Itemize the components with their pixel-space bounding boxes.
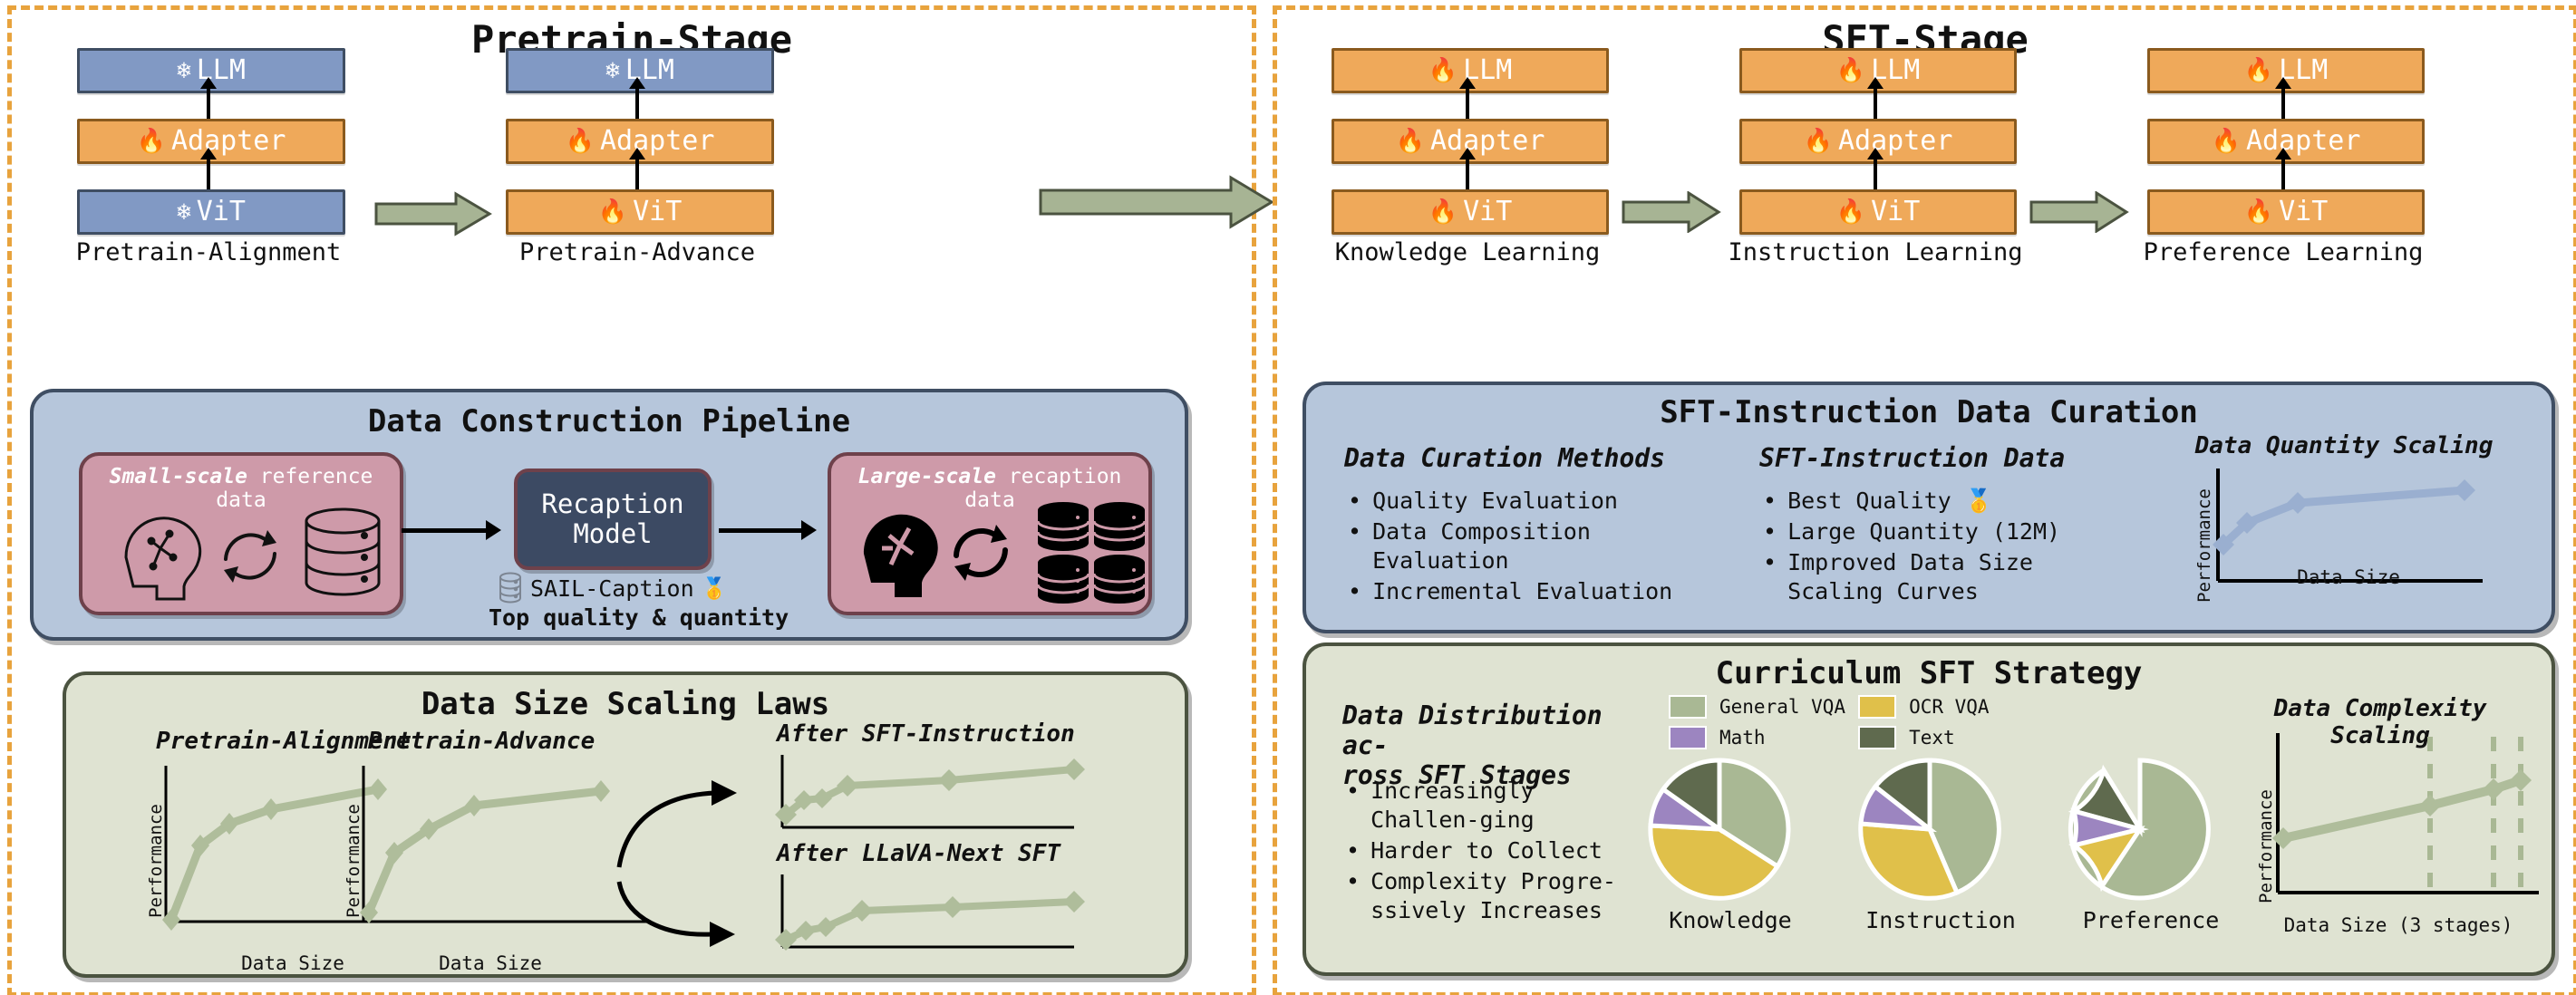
item-text: Best Quality 🥇: [1787, 487, 1993, 516]
pipeline-title: Data Construction Pipeline: [34, 403, 1185, 440]
list-item: •Data Composition Evaluation: [1348, 517, 1719, 575]
recaption-model-box[interactable]: Recaption Model: [514, 469, 712, 570]
block-label: Adapter: [2246, 128, 2360, 155]
data-size-scaling-laws-card: Data Size Scaling Laws Pretrain-Alignmen…: [63, 671, 1188, 978]
block-vit-1[interactable]: ❄ ViT: [77, 189, 345, 235]
small-scale-emph: Small-scale: [110, 465, 247, 488]
list-item: •Large Quantity (12M): [1763, 517, 2126, 546]
snowflake-icon: ❄: [177, 200, 191, 224]
arrow-adapter-to-llm-1: [207, 88, 210, 119]
item-text: Large Quantity (12M): [1787, 517, 2060, 546]
arrow-adapter-to-llm-2: [635, 88, 639, 119]
fire-icon: 🔥: [1428, 200, 1457, 224]
bullet-icon: •: [1763, 517, 1777, 546]
legend-label-general-vqa: General VQA: [1719, 696, 1845, 718]
stage-arrow-1: [374, 191, 492, 237]
scaling-laws-title: Data Size Scaling Laws: [66, 686, 1185, 722]
sail-caption-label: SAIL-Caption: [530, 575, 694, 602]
pretrain-advance-label: Pretrain-Advance: [497, 238, 778, 266]
chart-after-llava-next-sft: After LLaVA-Next SFT: [768, 840, 1112, 958]
sft-arrow-2: [2029, 191, 2129, 233]
chart-pretrain-advance: Pretrain-Advance Performance Data Size: [318, 728, 644, 954]
fire-icon: 🔥: [1428, 59, 1457, 82]
pie-label-knowledge: Knowledge: [1622, 907, 1839, 933]
item-text: Harder to Collect: [1370, 836, 1603, 865]
pie-instruction: [1850, 755, 2031, 909]
knowledge-learning-label: Knowledge Learning: [1313, 238, 1622, 266]
sft-stage-panel: SFT-Stage 🔥 LLM 🔥 Adapter 🔥 ViT Knowledg…: [1273, 5, 2576, 995]
arrow-adapter-to-llm-p: [2281, 88, 2285, 119]
fire-icon: 🔥: [2244, 59, 2273, 82]
list-item: •Increasingly Challen-ging: [1346, 777, 1654, 835]
curation-col2-list: •Best Quality 🥇 •Large Quantity (12M) •I…: [1763, 487, 2126, 608]
pie-preference: [2060, 755, 2242, 909]
legend-swatch-ocr-vqa: [1858, 695, 1896, 719]
bullet-icon: •: [1348, 517, 1361, 575]
item-text: Data Composition Evaluation: [1372, 517, 1719, 575]
recaption-model-text: Recaption Model: [541, 489, 683, 550]
data-construction-pipeline-card: Data Construction Pipeline Small-scale r…: [30, 389, 1188, 641]
pie-knowledge: [1640, 755, 1821, 909]
chart-after-sft-instruction: After SFT-Instruction: [768, 720, 1112, 838]
branch-arrows: [610, 748, 773, 956]
fire-icon: 🔥: [2244, 200, 2273, 224]
block-label: Adapter: [1430, 128, 1545, 155]
large-scale-recaption-data-box: Large-scale recaption data: [828, 452, 1152, 615]
pretrain-stage-panel: Pretrain-Stage ❄ LLM 🔥 Adapter ❄ ViT Pre…: [7, 5, 1256, 995]
list-item: •Harder to Collect: [1346, 836, 1654, 865]
block-vit-k[interactable]: 🔥 ViT: [1332, 189, 1609, 235]
item-text: Incremental Evaluation: [1372, 577, 1672, 606]
medal-icon: 🥇: [702, 576, 728, 601]
chart-plot: [2271, 733, 2570, 905]
block-label: Adapter: [171, 128, 286, 155]
heading-line-1: Data Distribution ac-: [1342, 700, 1660, 760]
chart-title: Data Quantity Scaling: [2158, 432, 2530, 459]
large-scale-emph: Large-scale: [858, 465, 996, 488]
instruction-learning-label: Instruction Learning: [1721, 238, 2029, 266]
legend-swatch-general-vqa: [1669, 695, 1707, 719]
list-item: •Quality Evaluation: [1348, 487, 1719, 516]
fire-icon: 🔥: [137, 130, 166, 153]
chart-xlabel: Data Size: [2258, 566, 2439, 588]
chart-plot: [775, 755, 1092, 836]
list-item: •Incremental Evaluation: [1348, 577, 1719, 606]
fire-icon: 🔥: [1396, 130, 1425, 153]
legend-swatch-math: [1669, 726, 1707, 749]
small-scale-reference-data-box: Small-scale reference data: [79, 452, 403, 615]
bullet-icon: •: [1346, 836, 1360, 865]
arrow-model-to-large: [719, 528, 802, 533]
chart-title: Pretrain-Advance: [318, 728, 644, 755]
pretrain-alignment-stack: ❄ LLM 🔥 Adapter ❄ ViT Pretrain-Alignment: [77, 48, 340, 193]
pie-legend: General VQA OCR VQA Math Text: [1669, 695, 1990, 749]
recaption-line-2: Model: [541, 519, 683, 549]
arrow-adapter-to-llm-k: [1466, 88, 1469, 119]
legend-label-ocr-vqa: OCR VQA: [1909, 696, 1990, 718]
list-item: •Complexity Progre-ssively Increases: [1346, 867, 1654, 925]
curation-col1-list: •Quality Evaluation •Data Composition Ev…: [1348, 487, 1719, 608]
database-icon: [498, 572, 523, 604]
pie-label-instruction: Instruction: [1832, 907, 2049, 933]
block-label: Adapter: [1838, 128, 1952, 155]
bullet-icon: •: [1348, 577, 1361, 606]
bullet-icon: •: [1763, 548, 1777, 606]
reference-data-icons: [82, 496, 400, 613]
chart-data-quantity-scaling: Data Quantity Scaling Performance Data S…: [2158, 432, 2530, 623]
item-text: Complexity Progre-ssively Increases: [1370, 867, 1654, 925]
chart-title: After SFT-Instruction: [777, 720, 1121, 748]
recaption-line-1: Recaption: [541, 489, 683, 519]
pretrain-advance-stack: ❄ LLM 🔥 Adapter 🔥 ViT Pretrain-Advance: [506, 48, 769, 193]
block-vit-p[interactable]: 🔥 ViT: [2147, 189, 2425, 235]
block-label: ViT: [197, 198, 246, 226]
fire-icon: 🔥: [1836, 59, 1865, 82]
arrow-vit-to-adapter-i: [1874, 159, 1877, 189]
item-text: Increasingly Challen-ging: [1370, 777, 1654, 835]
block-vit-2[interactable]: 🔥 ViT: [506, 189, 774, 235]
bullet-icon: •: [1346, 777, 1360, 835]
arrow-vit-to-adapter-k: [1466, 159, 1469, 189]
arrow-vit-to-adapter-1: [207, 159, 210, 189]
arrow-adapter-to-llm-i: [1874, 88, 1877, 119]
sft-arrow-1: [1622, 191, 1721, 233]
bullet-icon: •: [1763, 487, 1777, 516]
block-label: ViT: [1463, 198, 1512, 226]
chart-plot: [775, 874, 1092, 956]
curation-col2-heading: SFT-Instruction Data: [1759, 443, 2140, 473]
legend-label-math: Math: [1719, 727, 1845, 749]
item-text: Quality Evaluation: [1372, 487, 1618, 516]
block-label: ViT: [1871, 198, 1920, 226]
preference-learning-label: Preference Learning: [2129, 238, 2437, 266]
figure-root: Pretrain-Stage ❄ LLM 🔥 Adapter ❄ ViT Pre…: [0, 0, 2576, 995]
curriculum-sft-strategy-card: Curriculum SFT Strategy Data Distributio…: [1303, 642, 2555, 976]
sft-instruction-data-curation-card: SFT-Instruction Data Curation Data Curat…: [1303, 382, 2555, 633]
chart-xlabel: Data Size (3 stages): [2258, 914, 2539, 936]
list-item: •Best Quality 🥇: [1763, 487, 2126, 516]
list-item: •Improved Data Size Scaling Curves: [1763, 548, 2126, 606]
sail-caption-line: SAIL-Caption 🥇: [498, 572, 727, 604]
knowledge-learning-stack: 🔥 LLM 🔥 Adapter 🔥 ViT Knowledge Learning: [1332, 48, 1603, 193]
top-quality-label: Top quality & quantity: [489, 604, 789, 631]
fire-icon: 🔥: [1804, 130, 1833, 153]
curriculum-title: Curriculum SFT Strategy: [1306, 655, 2552, 691]
pretrain-to-sft-arrow: [1039, 174, 1274, 230]
legend-swatch-text: [1858, 726, 1896, 749]
arrow-vit-to-adapter-2: [635, 159, 639, 189]
instruction-learning-stack: 🔥 LLM 🔥 Adapter 🔥 ViT Instruction Learni…: [1739, 48, 2011, 193]
arrow-ref-to-model: [402, 528, 487, 533]
preference-learning-stack: 🔥 LLM 🔥 Adapter 🔥 ViT Preference Learnin…: [2147, 48, 2419, 193]
arrow-vit-to-adapter-p: [2281, 159, 2285, 189]
chart-title: After LLaVA-Next SFT: [777, 840, 1121, 867]
chart-data-complexity-scaling: Data Complexity Scaling Performance Data…: [2222, 695, 2539, 949]
snowflake-icon: ❄: [605, 59, 620, 82]
fire-icon: 🔥: [566, 130, 595, 153]
recaption-data-icons: [831, 494, 1148, 612]
chart-xlabel: Data Size: [373, 952, 608, 974]
curation-col1-heading: Data Curation Methods: [1344, 443, 1707, 473]
block-label: Adapter: [600, 128, 714, 155]
bullet-icon: •: [1346, 867, 1360, 925]
fire-icon: 🔥: [2212, 130, 2241, 153]
item-text: Improved Data Size Scaling Curves: [1787, 548, 2126, 606]
block-vit-i[interactable]: 🔥 ViT: [1739, 189, 2017, 235]
curation-title: SFT-Instruction Data Curation: [1306, 394, 2552, 430]
bullet-icon: •: [1348, 487, 1361, 516]
block-label: ViT: [2279, 198, 2328, 226]
fire-icon: 🔥: [598, 200, 627, 224]
legend-label-text: Text: [1909, 727, 1990, 749]
pretrain-alignment-label: Pretrain-Alignment: [68, 238, 349, 266]
block-label: ViT: [633, 198, 682, 226]
snowflake-icon: ❄: [177, 59, 191, 82]
fire-icon: 🔥: [1836, 200, 1865, 224]
curriculum-col1-list: •Increasingly Challen-ging •Harder to Co…: [1346, 777, 1654, 927]
